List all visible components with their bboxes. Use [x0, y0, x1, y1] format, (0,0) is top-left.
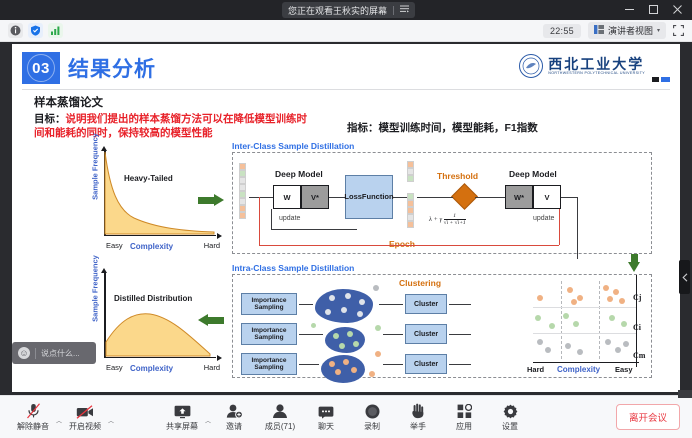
apps-label: 应用 — [456, 421, 472, 432]
cluster-box-1: Cluster — [405, 294, 447, 314]
start-video-button[interactable]: 开启视频 — [62, 397, 108, 437]
logo-text-block: 西北工业大学 NORTHWESTERN POLYTECHNICAL UNIVER… — [548, 57, 645, 76]
scatter-x-tick-right: Easy — [615, 365, 633, 374]
presentation-slide: 03 结果分析 西北工业大学 NORTHWESTERN POLYTECHNICA… — [12, 44, 680, 392]
formula-numerator: 1 — [444, 213, 466, 220]
scatter-dot — [565, 343, 571, 349]
chart-x-tick-left: Easy — [106, 241, 123, 250]
sample-dot — [351, 367, 357, 373]
scatter-dot — [605, 339, 611, 345]
watching-screen-text: 您正在观看王秋实的屏幕 — [288, 4, 387, 17]
scatter-x-axis — [533, 362, 639, 364]
share-screen-button[interactable]: 共享屏幕 — [159, 397, 205, 437]
panel-title-inter-class: Inter-Class Sample Distillation — [232, 141, 354, 151]
sample-strip-mid-lower — [407, 193, 414, 228]
scatter-dot — [535, 315, 541, 321]
scatter-dot — [573, 321, 579, 327]
scatter-dot — [577, 295, 583, 301]
gear-icon — [503, 402, 518, 419]
leave-meeting-button[interactable]: 离开会议 — [616, 404, 680, 430]
importance-sampling-box-1: ImportanceSampling — [241, 293, 297, 315]
chart-x-label: Complexity — [130, 242, 173, 251]
is-line1: Importance — [251, 357, 286, 364]
toolbar-right-group: 离开会议 — [616, 404, 692, 430]
logo-chinese-name: 西北工业大学 — [548, 57, 644, 72]
green-arrow-right-top — [198, 194, 224, 206]
x-axis-arrow-icon — [217, 233, 222, 239]
sample-dot — [329, 361, 335, 367]
fullscreen-icon[interactable] — [673, 25, 684, 36]
scrollbar-nub[interactable] — [678, 390, 692, 398]
share-screen-label: 共享屏幕 — [166, 421, 198, 432]
connector — [271, 229, 357, 230]
scatter-x-label: Complexity — [557, 365, 600, 374]
node-loss-function: Loss Function — [345, 175, 393, 219]
connector — [249, 197, 273, 198]
sample-dot — [339, 343, 345, 349]
apps-grid-icon — [457, 402, 472, 419]
formula-lead: λ + γ — [429, 216, 442, 223]
method-figure: Sample Frequency Heavy-Tailed Easy Compl… — [72, 142, 662, 382]
section-number-text: 03 — [32, 60, 50, 77]
info-icon[interactable] — [8, 23, 23, 38]
logo-english-name: NORTHWESTERN POLYTECHNICAL UNIVERSITY — [548, 71, 645, 75]
formula-denominator: √i + √i+1 — [444, 220, 466, 226]
record-button[interactable]: 录制 — [349, 397, 395, 437]
connector — [271, 209, 272, 229]
scatter-dot — [623, 341, 629, 347]
video-off-icon — [76, 402, 94, 419]
connector — [417, 197, 453, 198]
connector — [383, 334, 403, 335]
shared-screen-stage: 03 结果分析 西北工业大学 NORTHWESTERN POLYTECHNICA… — [0, 42, 692, 395]
node-w-star: W* — [505, 185, 533, 209]
scatter-dot — [567, 287, 573, 293]
zoom-meeting-window: 您正在观看王秋实的屏幕 — [0, 0, 692, 438]
is-line2: Sampling — [254, 304, 283, 311]
sample-strip-input — [239, 163, 246, 219]
sample-dot — [335, 369, 341, 375]
green-arrow-left-bottom — [198, 314, 224, 326]
unmute-label: 解除静音 — [17, 421, 49, 432]
metrics-statement: 指标：模型训练时间，模型能耗，F1指数 — [347, 120, 538, 135]
chart-x-tick-left: Easy — [106, 363, 123, 372]
minimize-icon[interactable] — [618, 1, 640, 18]
raise-hand-button[interactable]: 举手 — [395, 397, 441, 437]
complexity-scatter-plot — [533, 281, 645, 363]
participants-label: 成员(71) — [265, 421, 295, 432]
logo-color-blocks — [652, 77, 670, 82]
signal-bars-icon[interactable] — [48, 23, 63, 38]
node-v-star: V* — [301, 185, 329, 209]
sample-dot — [329, 295, 335, 301]
watching-screen-notice: 您正在观看王秋实的屏幕 — [282, 2, 415, 18]
chat-label: 聊天 — [318, 421, 334, 432]
outlier-dot — [369, 371, 375, 377]
loss-function-line1: Loss — [344, 193, 362, 202]
connector — [449, 334, 471, 335]
invite-person-icon — [226, 402, 243, 419]
cluster-blob-2 — [325, 327, 365, 353]
connector — [449, 364, 471, 365]
chevron-down-icon: ▾ — [657, 27, 660, 34]
scatter-dot — [607, 296, 613, 302]
scatter-dot — [621, 321, 627, 327]
scatter-dot — [577, 349, 583, 355]
node-v: V — [533, 185, 561, 209]
x-axis-arrow-icon — [217, 355, 222, 361]
heavy-tailed-curve — [104, 150, 216, 236]
chart-y-label: Sample Frequency — [91, 254, 100, 324]
scatter-dot — [571, 299, 577, 305]
scatter-x-tick-left: Hard — [527, 365, 544, 374]
scatter-dot — [537, 339, 543, 345]
record-icon — [365, 402, 380, 419]
goal-statement: 目标：说明我们提出的样本蒸馏方法可以在降低模型训练时间和能耗的同时，保持较高的模… — [34, 112, 314, 140]
scatter-dot — [619, 298, 625, 304]
slide-subheading: 样本蒸馏论文 — [34, 94, 103, 110]
scatter-gridline — [561, 281, 562, 359]
scatter-dot — [549, 323, 555, 329]
logo-seal-icon — [519, 54, 543, 78]
sample-strip-mid-upper — [407, 161, 414, 182]
sample-dot — [325, 309, 331, 315]
unmute-button[interactable]: 解除静音 — [10, 397, 56, 437]
status-bar-right-controls: 22:55 演讲者视图 ▾ — [543, 22, 692, 39]
share-screen-icon — [173, 402, 190, 419]
invite-button[interactable]: 邀请 — [211, 397, 257, 437]
university-logo: 西北工业大学 NORTHWESTERN POLYTECHNICAL UNIVER… — [519, 50, 670, 82]
toolbar-center-group: 共享屏幕 ︿ 邀请 成员(71) 聊天 — [159, 397, 533, 437]
logo-block-dark — [652, 77, 659, 82]
meeting-toolbar: 解除静音 ︿ 开启视频 ︿ 共享屏幕 ︿ — [0, 395, 692, 438]
connector — [383, 364, 403, 365]
goal-text: 说明我们提出的样本蒸馏方法可以在降低模型训练时间和能耗的同时，保持较高的模型性能 — [34, 113, 307, 139]
is-line1: Importance — [251, 297, 286, 304]
is-line2: Sampling — [254, 334, 283, 341]
view-mode-label: 演讲者视图 — [608, 24, 653, 37]
scatter-dot — [613, 289, 619, 295]
label-deep-model-left: Deep Model — [275, 169, 323, 179]
toolbar-left-group: 解除静音 ︿ 开启视频 ︿ — [0, 397, 114, 437]
connector — [577, 197, 578, 259]
chart-x-tick-right: Hard — [204, 241, 220, 250]
close-icon[interactable] — [666, 1, 688, 18]
connector — [299, 364, 319, 365]
epoch-loop-line — [259, 197, 260, 245]
participants-button[interactable]: 成员(71) — [257, 397, 303, 437]
outlier-dot — [375, 325, 381, 331]
view-mode-selector[interactable]: 演讲者视图 ▾ — [588, 22, 666, 39]
chat-divider — [35, 348, 36, 359]
chart-x-label: Complexity — [130, 364, 173, 373]
scatter-gridline — [533, 307, 637, 308]
importance-sampling-box-3: ImportanceSampling — [241, 353, 297, 375]
scatter-dot — [615, 347, 621, 353]
panel-intra-class: Clustering ImportanceSampling Importance… — [232, 274, 652, 378]
logo-block-blue — [661, 77, 670, 82]
apps-button[interactable]: 应用 — [441, 397, 487, 437]
connector — [299, 334, 323, 335]
connector — [393, 197, 407, 198]
loss-function-line2: Function — [362, 193, 394, 202]
connector — [475, 197, 505, 198]
label-threshold: Threshold — [437, 171, 478, 181]
cluster-blob-1 — [315, 289, 373, 323]
chat-bubble-icon — [318, 402, 334, 419]
window-controls — [618, 1, 688, 18]
sample-dot — [357, 311, 363, 317]
epoch-loop-line — [259, 245, 559, 246]
microphone-muted-icon — [26, 402, 41, 419]
label-epoch: Epoch — [389, 239, 415, 249]
label-update-left: update — [279, 215, 300, 222]
participants-icon — [272, 402, 288, 419]
invite-label: 邀请 — [226, 421, 242, 432]
chart-y-label: Sample Frequency — [91, 132, 100, 202]
sample-dot — [343, 359, 349, 365]
threshold-formula: λ + γ 1 √i + √i+1 — [429, 213, 466, 226]
node-w: W — [273, 185, 301, 209]
chart-name-label: Distilled Distribution — [114, 294, 192, 303]
raise-hand-label: 举手 — [410, 421, 426, 432]
threshold-diamond-icon — [451, 183, 478, 210]
connector — [329, 197, 345, 198]
cluster-box-2: Cluster — [405, 324, 447, 344]
scatter-dot — [603, 285, 609, 291]
formula-fraction: 1 √i + √i+1 — [444, 213, 466, 226]
window-title-bar: 您正在观看王秋实的屏幕 — [0, 0, 692, 20]
meeting-timer: 22:55 — [543, 24, 581, 38]
raise-hand-icon — [411, 402, 425, 419]
notice-divider — [393, 6, 394, 15]
page-title: 结果分析 — [68, 53, 156, 83]
shield-icon[interactable] — [28, 23, 43, 38]
status-bar-left-icons — [0, 23, 63, 38]
outlier-dot — [373, 285, 379, 291]
title-divider — [22, 89, 670, 90]
video-options-chevron-icon[interactable]: ︿ — [108, 416, 114, 425]
cluster-box-3: Cluster — [405, 354, 447, 374]
sample-dot — [333, 333, 339, 339]
hamburger-icon[interactable] — [400, 5, 409, 15]
settings-label: 设置 — [502, 421, 518, 432]
class-label-cm: Cm — [633, 351, 645, 360]
scatter-dot — [609, 315, 615, 321]
chat-button[interactable]: 聊天 — [303, 397, 349, 437]
sample-dot — [359, 299, 365, 305]
connector — [299, 304, 313, 305]
meeting-status-bar: 22:55 演讲者视图 ▾ — [0, 20, 692, 42]
scatter-dot — [563, 313, 569, 319]
connector — [449, 304, 471, 305]
is-line2: Sampling — [254, 364, 283, 371]
label-update-right: update — [533, 215, 554, 222]
is-line1: Importance — [251, 327, 286, 334]
goal-label: 目标： — [34, 113, 66, 125]
label-deep-model-right: Deep Model — [509, 169, 557, 179]
connector — [561, 197, 577, 198]
emoji-icon[interactable]: ☺ — [18, 347, 30, 359]
chevron-left-icon — [682, 273, 688, 282]
sample-dot — [353, 341, 359, 347]
maximize-icon[interactable] — [642, 1, 664, 18]
class-label-ci: Ci — [633, 323, 641, 332]
scatter-dot — [537, 295, 543, 301]
sample-dot — [345, 293, 351, 299]
section-number-badge: 03 — [22, 52, 60, 84]
record-label: 录制 — [364, 421, 380, 432]
panel-collapse-button[interactable] — [679, 260, 690, 294]
scatter-gridline — [599, 281, 600, 359]
sample-dot — [341, 307, 347, 313]
label-clustering: Clustering — [399, 278, 441, 288]
chart-name-label: Heavy-Tailed — [124, 174, 173, 183]
panel-inter-class: Deep Model W V* Loss Function Threshold — [232, 152, 652, 254]
importance-sampling-box-2: ImportanceSampling — [241, 323, 297, 345]
sample-dot — [347, 331, 353, 337]
chat-input[interactable]: 说点什么... — [41, 348, 80, 359]
outlier-dot — [311, 323, 316, 328]
chart-x-tick-right: Hard — [204, 363, 220, 372]
connector — [379, 304, 403, 305]
speaker-view-icon — [594, 25, 604, 36]
scatter-gridline — [533, 333, 637, 334]
class-label-cj: Cj — [633, 293, 641, 302]
scatter-dot — [545, 347, 551, 353]
panel-title-intra-class: Intra-Class Sample Distillation — [232, 263, 354, 273]
chat-input-overlay[interactable]: ☺ 说点什么... — [12, 342, 96, 364]
settings-button[interactable]: 设置 — [487, 397, 533, 437]
outlier-dot — [375, 351, 381, 357]
start-video-label: 开启视频 — [69, 421, 101, 432]
epoch-loop-line — [559, 209, 560, 245]
